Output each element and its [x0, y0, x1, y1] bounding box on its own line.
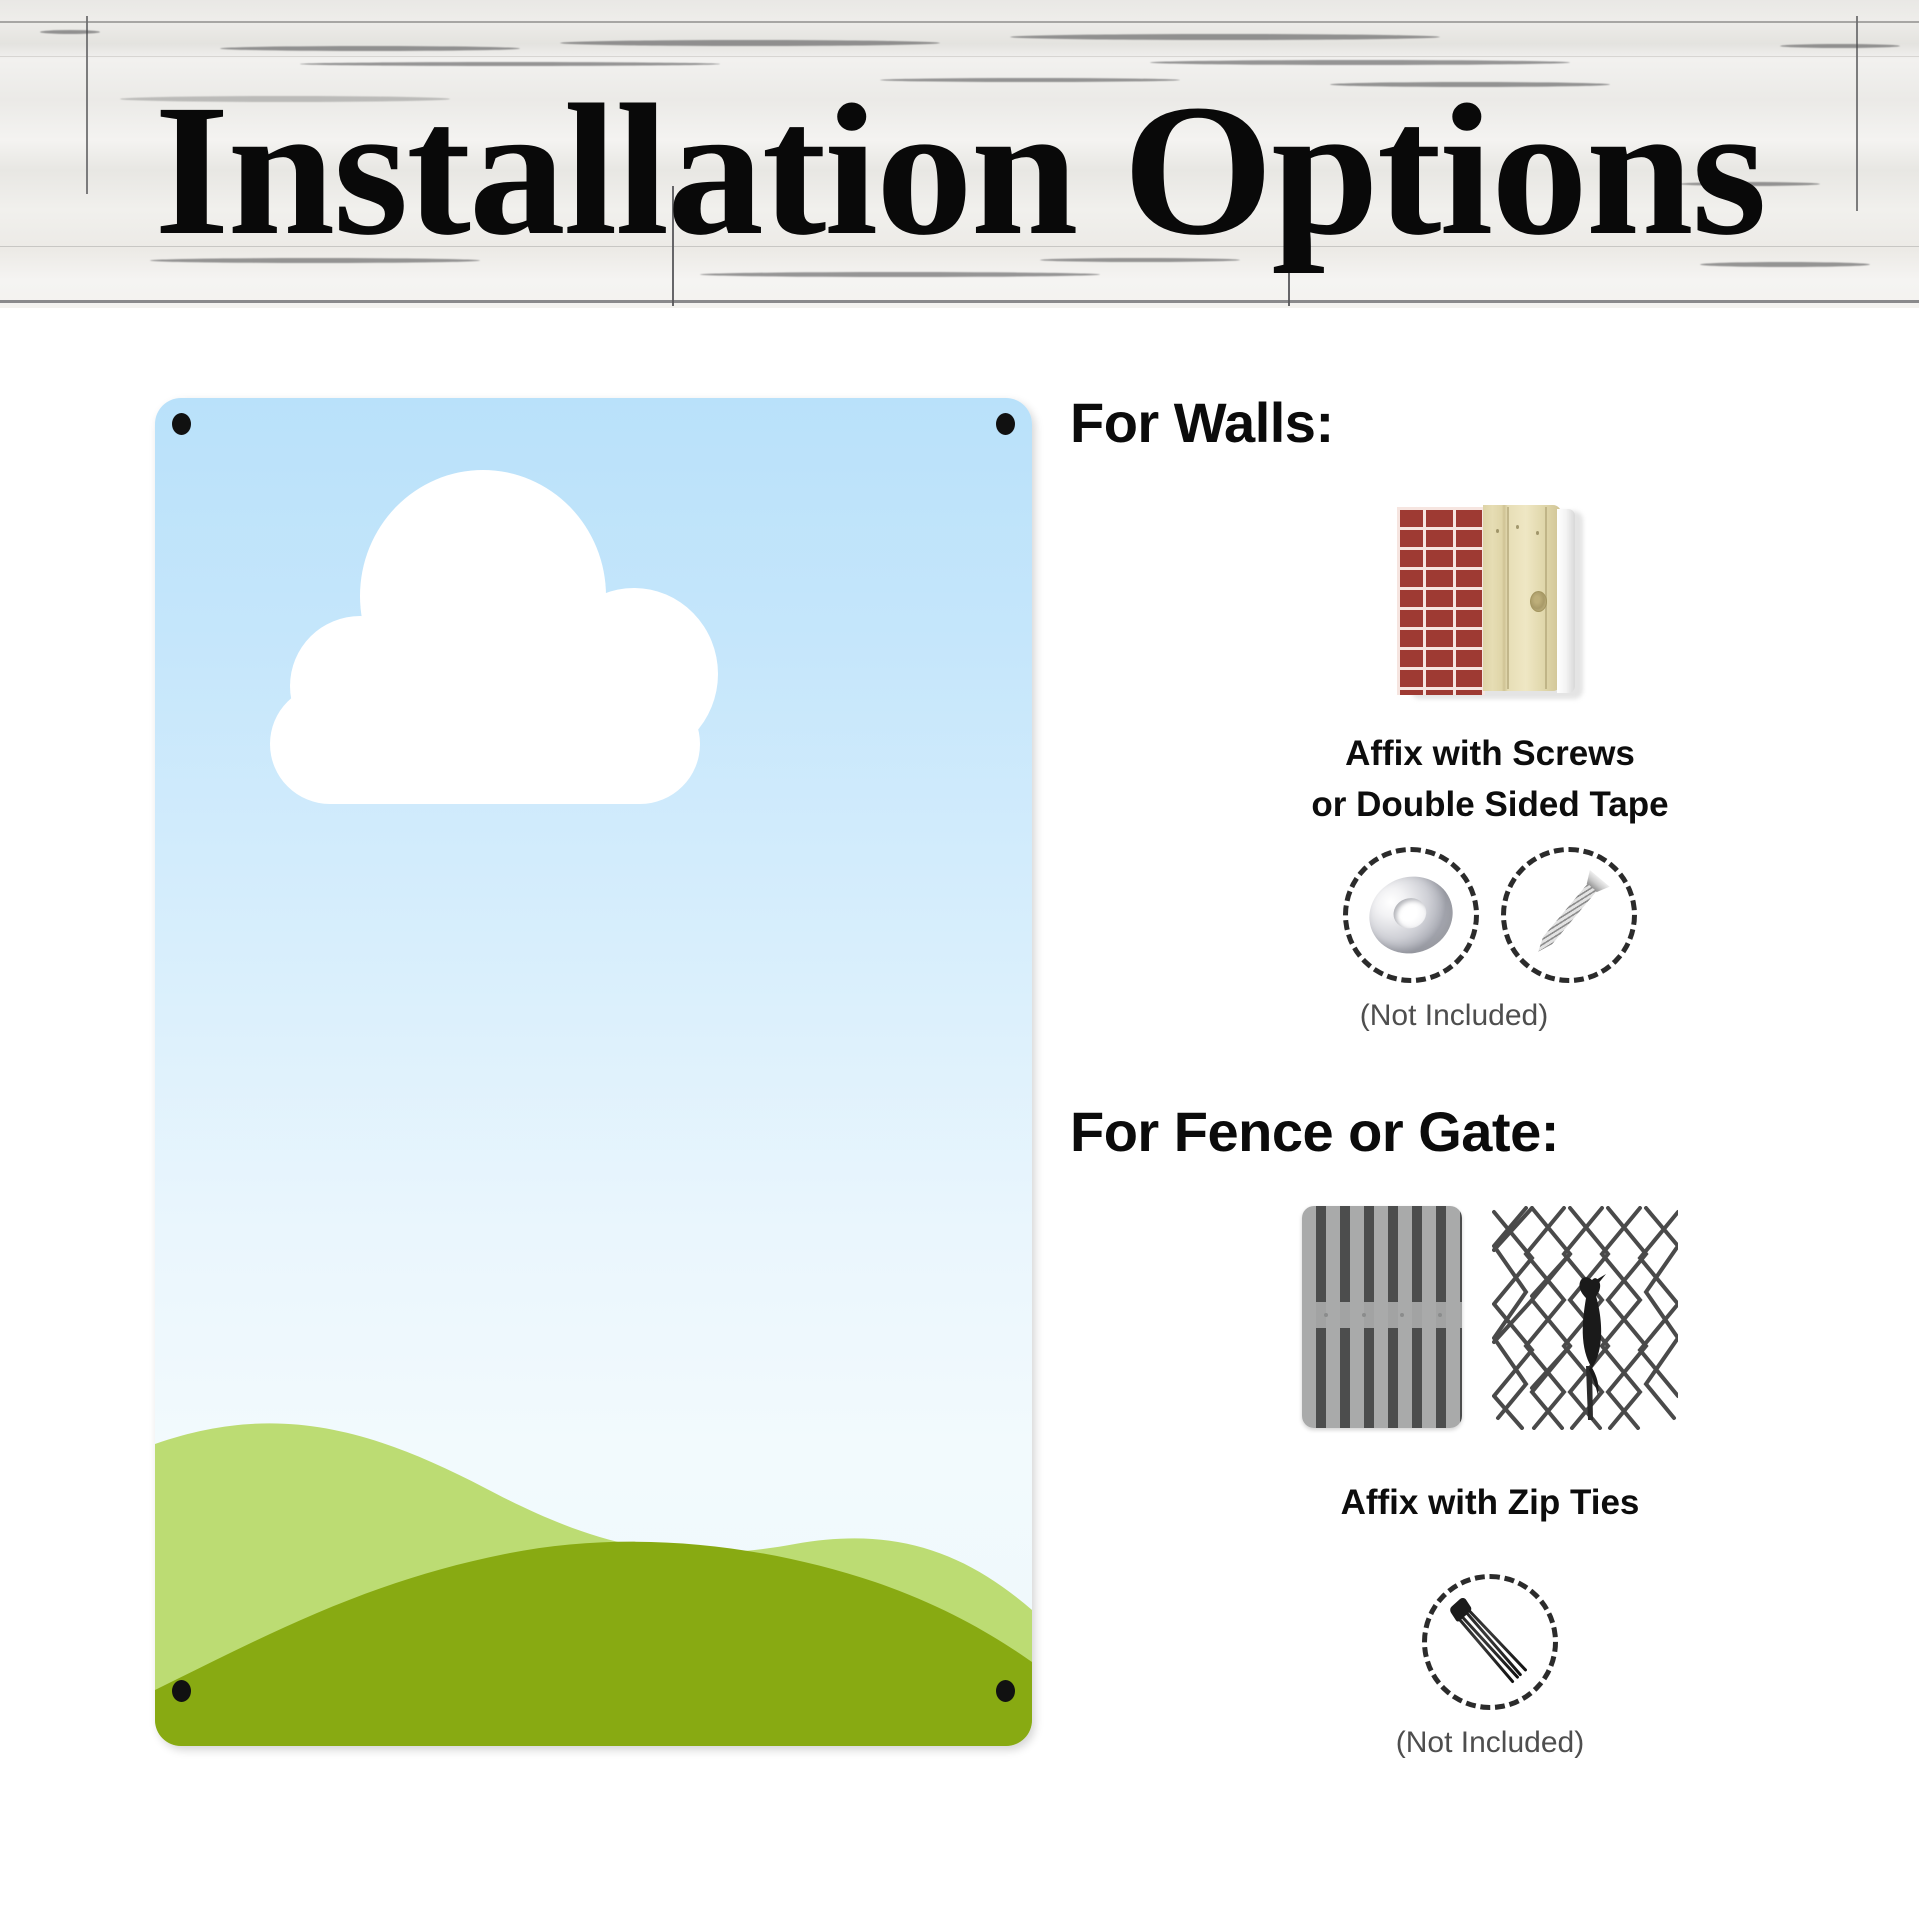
cloud-shape — [550, 588, 718, 760]
tape-roll-icon — [1343, 847, 1479, 983]
brick-and-wood-wall-image — [1397, 503, 1583, 699]
fence-hardware-row — [1060, 1574, 1919, 1710]
fence-not-included-note: (Not Included) — [1060, 1726, 1919, 1760]
brick-wall-texture — [1397, 507, 1485, 695]
walls-not-included-note: (Not Included) — [1060, 999, 1919, 1033]
walls-hardware-row — [1060, 847, 1919, 983]
walls-section-heading: For Walls: — [1060, 390, 1919, 455]
sign-preview — [155, 398, 1032, 1746]
slat-fence-image — [1302, 1206, 1462, 1428]
section-for-fence-or-gate: For Fence or Gate: — [1060, 1099, 1919, 1761]
mounting-hole — [172, 413, 191, 435]
wood-knot — [1530, 591, 1547, 612]
wood-wall-texture — [1483, 505, 1561, 691]
chain-link-fence-image — [1492, 1206, 1678, 1430]
fence-images — [1280, 1206, 1700, 1430]
instructions-column: For Walls: Affix with Screws or Doub — [1060, 390, 1919, 1760]
fence-section-heading: For Fence or Gate: — [1060, 1099, 1919, 1164]
fence-caption-line-1: Affix with Zip Ties — [1060, 1478, 1919, 1529]
section-for-walls: For Walls: Affix with Screws or Doub — [1060, 390, 1919, 1033]
page-title: Installation Options — [0, 16, 1919, 308]
fence-rail-band — [1302, 1302, 1462, 1328]
walls-caption-line-2: or Double Sided Tape — [1060, 780, 1919, 831]
screw-icon — [1501, 847, 1637, 983]
wall-side-edge — [1557, 509, 1575, 693]
mounting-hole — [172, 1680, 191, 1702]
walls-caption-line-1: Affix with Screws — [1060, 729, 1919, 780]
bird-silhouette-icon — [1492, 1206, 1678, 1430]
mounting-hole — [996, 413, 1015, 435]
hill-front-shape — [155, 1486, 1032, 1746]
header-banner: Installation Options — [0, 0, 1919, 308]
zip-tie-icon — [1422, 1574, 1558, 1710]
mounting-hole — [996, 1680, 1015, 1702]
